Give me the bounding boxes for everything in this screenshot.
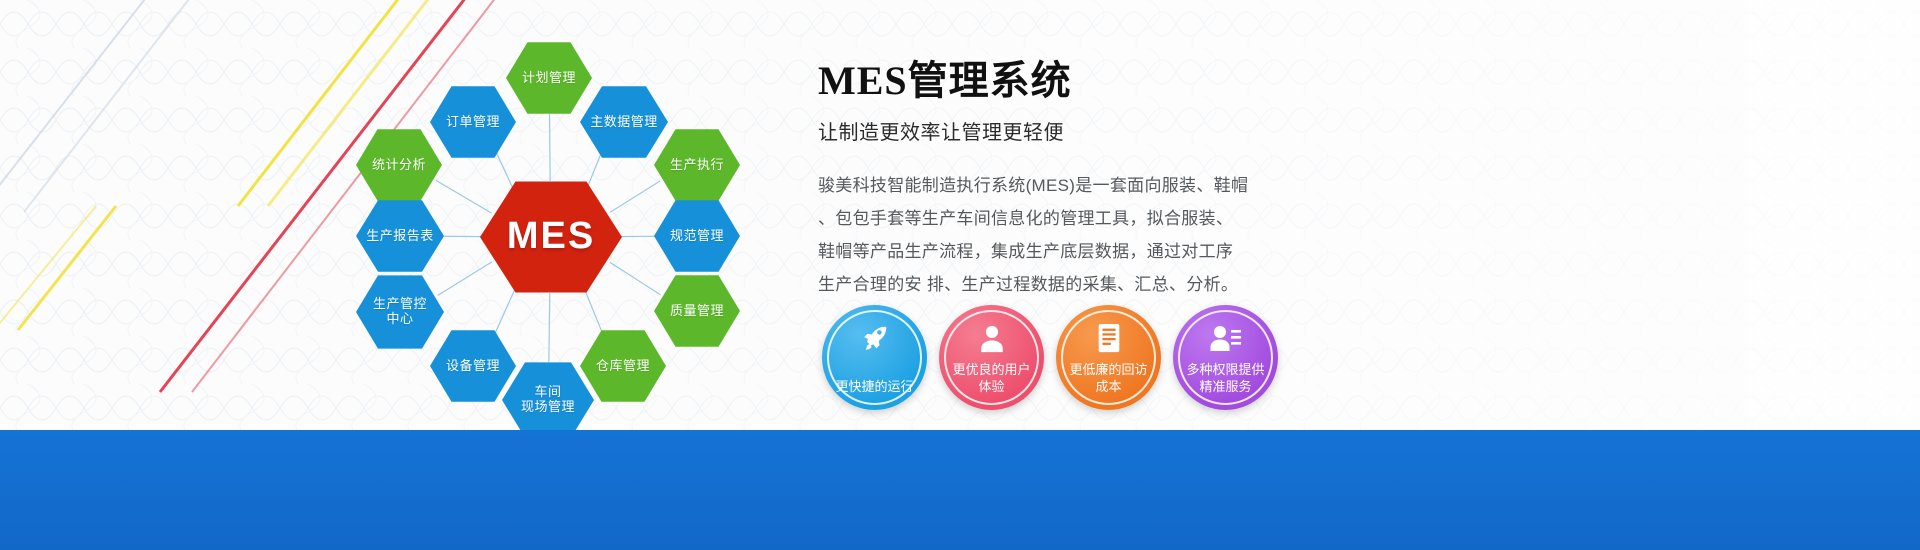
diagram-node-label: 仓库管理: [596, 359, 650, 374]
page-subtitle: 让制造更效率让管理更轻便: [818, 116, 1338, 145]
banner-stage: 计划管理订单管理主数据管理统计分析生产执行生产报告表规范管理生产管控 中心质量管…: [0, 0, 1920, 550]
user-icon: [939, 321, 1044, 355]
feature-badge-1[interactable]: 更快捷的运行: [822, 305, 927, 410]
rocket-icon: [822, 321, 927, 355]
banner-copy: MES管理系统 让制造更效率让管理更轻便 骏美科技智能制造执行系统(MES)是一…: [818, 48, 1338, 302]
diagram-node-label: 统计分析: [372, 158, 426, 173]
diagram-node-label: 订单管理: [446, 115, 500, 130]
diagram-node-label: 规范管理: [670, 229, 724, 244]
diagram-node-label: 设备管理: [446, 359, 500, 374]
badge-label: 更低廉的回访 成本: [1061, 361, 1155, 396]
badge-label: 更优良的用户 体验: [944, 361, 1038, 396]
diagram-node-label: 生产执行: [670, 158, 724, 173]
diagram-node-label: 质量管理: [670, 304, 724, 319]
bottom-blue-band: [0, 430, 1920, 550]
feature-badge-4[interactable]: 多种权限提供 精准服务: [1173, 305, 1278, 410]
feature-badge-2[interactable]: 更优良的用户 体验: [939, 305, 1044, 410]
diagram-node-label: 主数据管理: [590, 115, 658, 130]
diagram-node-label: 计划管理: [522, 71, 576, 86]
user-list-icon: [1173, 321, 1278, 355]
description-paragraph: 骏美科技智能制造执行系统(MES)是一套面向服装、鞋帽 、包包手套等生产车间信息…: [818, 169, 1338, 302]
badge-label: 多种权限提供 精准服务: [1178, 361, 1272, 396]
feature-badge-3[interactable]: 更低廉的回访 成本: [1056, 305, 1161, 410]
page-title: MES管理系统: [818, 48, 1338, 106]
feature-badge-list: 更快捷的运行更优良的用户 体验更低廉的回访 成本多种权限提供 精准服务: [822, 305, 1278, 410]
diagram-node-label: 生产管控 中心: [373, 297, 427, 327]
badge-label: 更快捷的运行: [827, 378, 921, 396]
diagram-node-label: 生产报告表: [366, 229, 434, 244]
mes-hexagon-diagram: 计划管理订单管理主数据管理统计分析生产执行生产报告表规范管理生产管控 中心质量管…: [330, 10, 800, 440]
document-icon: [1056, 321, 1161, 355]
diagram-core-label: MES: [507, 215, 595, 259]
